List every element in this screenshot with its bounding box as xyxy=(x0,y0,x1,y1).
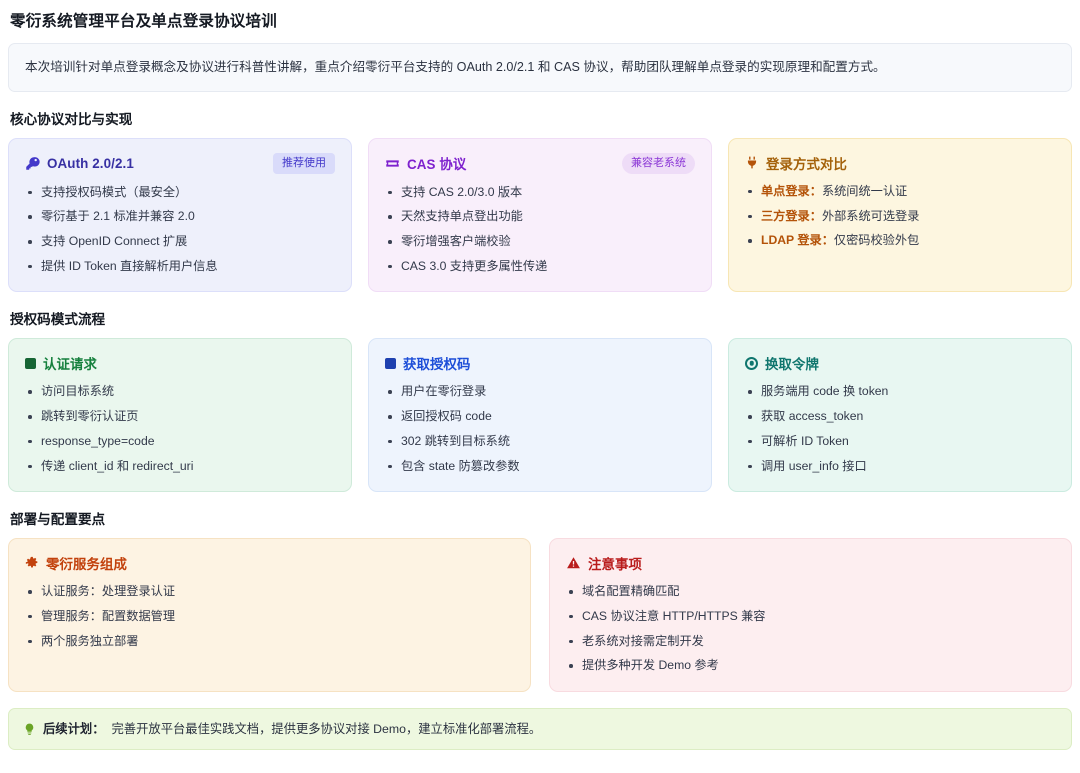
list-item: 跳转到零衍认证页 xyxy=(25,408,335,426)
training-slide: 零衍系统管理平台及单点登录协议培训 本次培训针对单点登录概念及协议进行科普性讲解… xyxy=(0,0,1080,773)
list-item: 天然支持单点登出功能 xyxy=(385,208,695,226)
list-item: 服务端用 code 换 token xyxy=(745,383,1055,401)
card-header: 注意事项 xyxy=(566,553,1055,573)
card-bullet-list: 服务端用 code 换 token 获取 access_token 可解析 ID… xyxy=(745,383,1055,475)
card-title: 认证请求 xyxy=(43,353,97,373)
card-title: 登录方式对比 xyxy=(766,153,847,173)
card-cas[interactable]: CAS 协议 兼容老系统 支持 CAS 2.0/3.0 版本 天然支持单点登出功… xyxy=(368,138,712,293)
card-get-authcode[interactable]: 获取授权码 用户在零衍登录 返回授权码 code 302 跳转到目标系统 包含 … xyxy=(368,338,712,492)
card-bullet-list: 用户在零衍登录 返回授权码 code 302 跳转到目标系统 包含 state … xyxy=(385,383,695,475)
blue-square-icon xyxy=(385,358,396,369)
list-item: CAS 协议注意 HTTP/HTTPS 兼容 xyxy=(566,608,1055,626)
gear-icon xyxy=(25,556,39,570)
list-item: CAS 3.0 支持更多属性传递 xyxy=(385,258,695,276)
list-item-lead: 单点登录： xyxy=(761,184,822,198)
footer-label: 后续计划： xyxy=(43,720,105,738)
list-item: 三方登录：外部系统可选登录 xyxy=(745,208,1055,226)
list-item: 两个服务独立部署 xyxy=(25,633,514,651)
list-item: 提供多种开发 Demo 参考 xyxy=(566,657,1055,675)
token-donut-icon xyxy=(745,357,758,370)
list-item: 提供 ID Token 直接解析用户信息 xyxy=(25,258,335,276)
list-item: 认证服务：处理登录认证 xyxy=(25,583,514,601)
lightbulb-icon xyxy=(23,722,36,736)
card-login-comparison[interactable]: 登录方式对比 单点登录：系统间统一认证 三方登录：外部系统可选登录 LDAP 登… xyxy=(728,138,1072,293)
card-header-left: 零衍服务组成 xyxy=(25,553,127,573)
card-header: 认证请求 xyxy=(25,353,335,373)
list-item: 获取 access_token xyxy=(745,408,1055,426)
card-title: 零衍服务组成 xyxy=(46,553,127,573)
list-item-rest: 外部系统可选登录 xyxy=(822,209,920,223)
card-exchange-token[interactable]: 换取令牌 服务端用 code 换 token 获取 access_token 可… xyxy=(728,338,1072,492)
list-item: 传递 client_id 和 redirect_uri xyxy=(25,458,335,476)
footer-next-steps-banner: 后续计划： 完善开放平台最佳实践文档，提供更多协议对接 Demo，建立标准化部署… xyxy=(8,708,1072,750)
card-bullet-list: 认证服务：处理登录认证 管理服务：配置数据管理 两个服务独立部署 xyxy=(25,583,514,650)
page-title: 零衍系统管理平台及单点登录协议培训 xyxy=(8,6,1072,31)
list-item: 包含 state 防篡改参数 xyxy=(385,458,695,476)
warning-triangle-icon xyxy=(566,556,581,570)
list-item: 可解析 ID Token xyxy=(745,433,1055,451)
card-cautions[interactable]: 注意事项 域名配置精确匹配 CAS 协议注意 HTTP/HTTPS 兼容 老系统… xyxy=(549,538,1072,692)
footer-text: 完善开放平台最佳实践文档，提供更多协议对接 Demo，建立标准化部署流程。 xyxy=(112,720,542,738)
card-title: OAuth 2.0/2.1 xyxy=(47,156,134,171)
card-header-left: 登录方式对比 xyxy=(745,153,847,173)
list-item: LDAP 登录：仅密码校验外包 xyxy=(745,232,1055,250)
card-header-left: 获取授权码 xyxy=(385,353,470,373)
card-bullet-list: 支持 CAS 2.0/3.0 版本 天然支持单点登出功能 零衍增强客户端校验 C… xyxy=(385,184,695,276)
list-item-lead: LDAP 登录： xyxy=(761,233,834,247)
card-title: 换取令牌 xyxy=(765,353,819,373)
green-square-icon xyxy=(25,358,36,369)
card-service-composition[interactable]: 零衍服务组成 认证服务：处理登录认证 管理服务：配置数据管理 两个服务独立部署 xyxy=(8,538,531,692)
list-item: 零衍增强客户端校验 xyxy=(385,233,695,251)
card-oauth[interactable]: OAuth 2.0/2.1 推荐使用 支持授权码模式（最安全） 零衍基于 2.1… xyxy=(8,138,352,293)
card-header: OAuth 2.0/2.1 推荐使用 xyxy=(25,153,335,174)
deployment-card-grid: 零衍服务组成 认证服务：处理登录认证 管理服务：配置数据管理 两个服务独立部署 … xyxy=(8,538,1072,692)
section-heading-protocols: 核心协议对比与实现 xyxy=(10,108,1072,128)
plug-icon xyxy=(745,155,759,170)
list-item: response_type=code xyxy=(25,433,335,451)
card-bullet-list: 支持授权码模式（最安全） 零衍基于 2.1 标准并兼容 2.0 支持 OpenI… xyxy=(25,184,335,276)
section-heading-authcode-flow: 授权码模式流程 xyxy=(10,308,1072,328)
list-item: 单点登录：系统间统一认证 xyxy=(745,183,1055,201)
list-item-rest: 仅密码校验外包 xyxy=(834,233,919,247)
card-header-left: 认证请求 xyxy=(25,353,97,373)
card-bullet-list: 域名配置精确匹配 CAS 协议注意 HTTP/HTTPS 兼容 老系统对接需定制… xyxy=(566,583,1055,675)
card-bullet-list: 访问目标系统 跳转到零衍认证页 response_type=code 传递 cl… xyxy=(25,383,335,475)
card-header: 获取授权码 xyxy=(385,353,695,373)
list-item: 调用 user_info 接口 xyxy=(745,458,1055,476)
card-header-left: 换取令牌 xyxy=(745,353,819,373)
intro-text: 本次培训针对单点登录概念及协议进行科普性讲解，重点介绍零衍平台支持的 OAuth… xyxy=(25,60,886,74)
list-item: 管理服务：配置数据管理 xyxy=(25,608,514,626)
card-auth-request[interactable]: 认证请求 访问目标系统 跳转到零衍认证页 response_type=code … xyxy=(8,338,352,492)
list-item: 支持 CAS 2.0/3.0 版本 xyxy=(385,184,695,202)
list-item: 零衍基于 2.1 标准并兼容 2.0 xyxy=(25,208,335,226)
card-header: 零衍服务组成 xyxy=(25,553,514,573)
card-title: 注意事项 xyxy=(588,553,642,573)
card-bullet-list: 单点登录：系统间统一认证 三方登录：外部系统可选登录 LDAP 登录：仅密码校验… xyxy=(745,183,1055,250)
badge-legacy-compatible: 兼容老系统 xyxy=(622,153,695,174)
list-item: 支持 OpenID Connect 扩展 xyxy=(25,233,335,251)
card-title: 获取授权码 xyxy=(403,353,470,373)
list-item-lead: 三方登录： xyxy=(761,209,822,223)
ticket-icon xyxy=(385,156,400,171)
flow-card-grid: 认证请求 访问目标系统 跳转到零衍认证页 response_type=code … xyxy=(8,338,1072,492)
list-item: 域名配置精确匹配 xyxy=(566,583,1055,601)
card-header: 登录方式对比 xyxy=(745,153,1055,173)
protocol-card-grid: OAuth 2.0/2.1 推荐使用 支持授权码模式（最安全） 零衍基于 2.1… xyxy=(8,138,1072,293)
list-item: 支持授权码模式（最安全） xyxy=(25,184,335,202)
card-header-left: CAS 协议 xyxy=(385,153,466,173)
card-header-left: 注意事项 xyxy=(566,553,642,573)
card-header: CAS 协议 兼容老系统 xyxy=(385,153,695,174)
list-item: 老系统对接需定制开发 xyxy=(566,633,1055,651)
list-item: 用户在零衍登录 xyxy=(385,383,695,401)
key-icon xyxy=(25,156,40,171)
card-header: 换取令牌 xyxy=(745,353,1055,373)
intro-banner: 本次培训针对单点登录概念及协议进行科普性讲解，重点介绍零衍平台支持的 OAuth… xyxy=(8,43,1072,92)
card-title: CAS 协议 xyxy=(407,153,466,173)
card-header-left: OAuth 2.0/2.1 xyxy=(25,156,134,171)
list-item: 302 跳转到目标系统 xyxy=(385,433,695,451)
list-item-rest: 系统间统一认证 xyxy=(822,184,907,198)
list-item: 返回授权码 code xyxy=(385,408,695,426)
badge-recommended: 推荐使用 xyxy=(273,153,335,174)
section-heading-deployment: 部署与配置要点 xyxy=(10,508,1072,528)
list-item: 访问目标系统 xyxy=(25,383,335,401)
